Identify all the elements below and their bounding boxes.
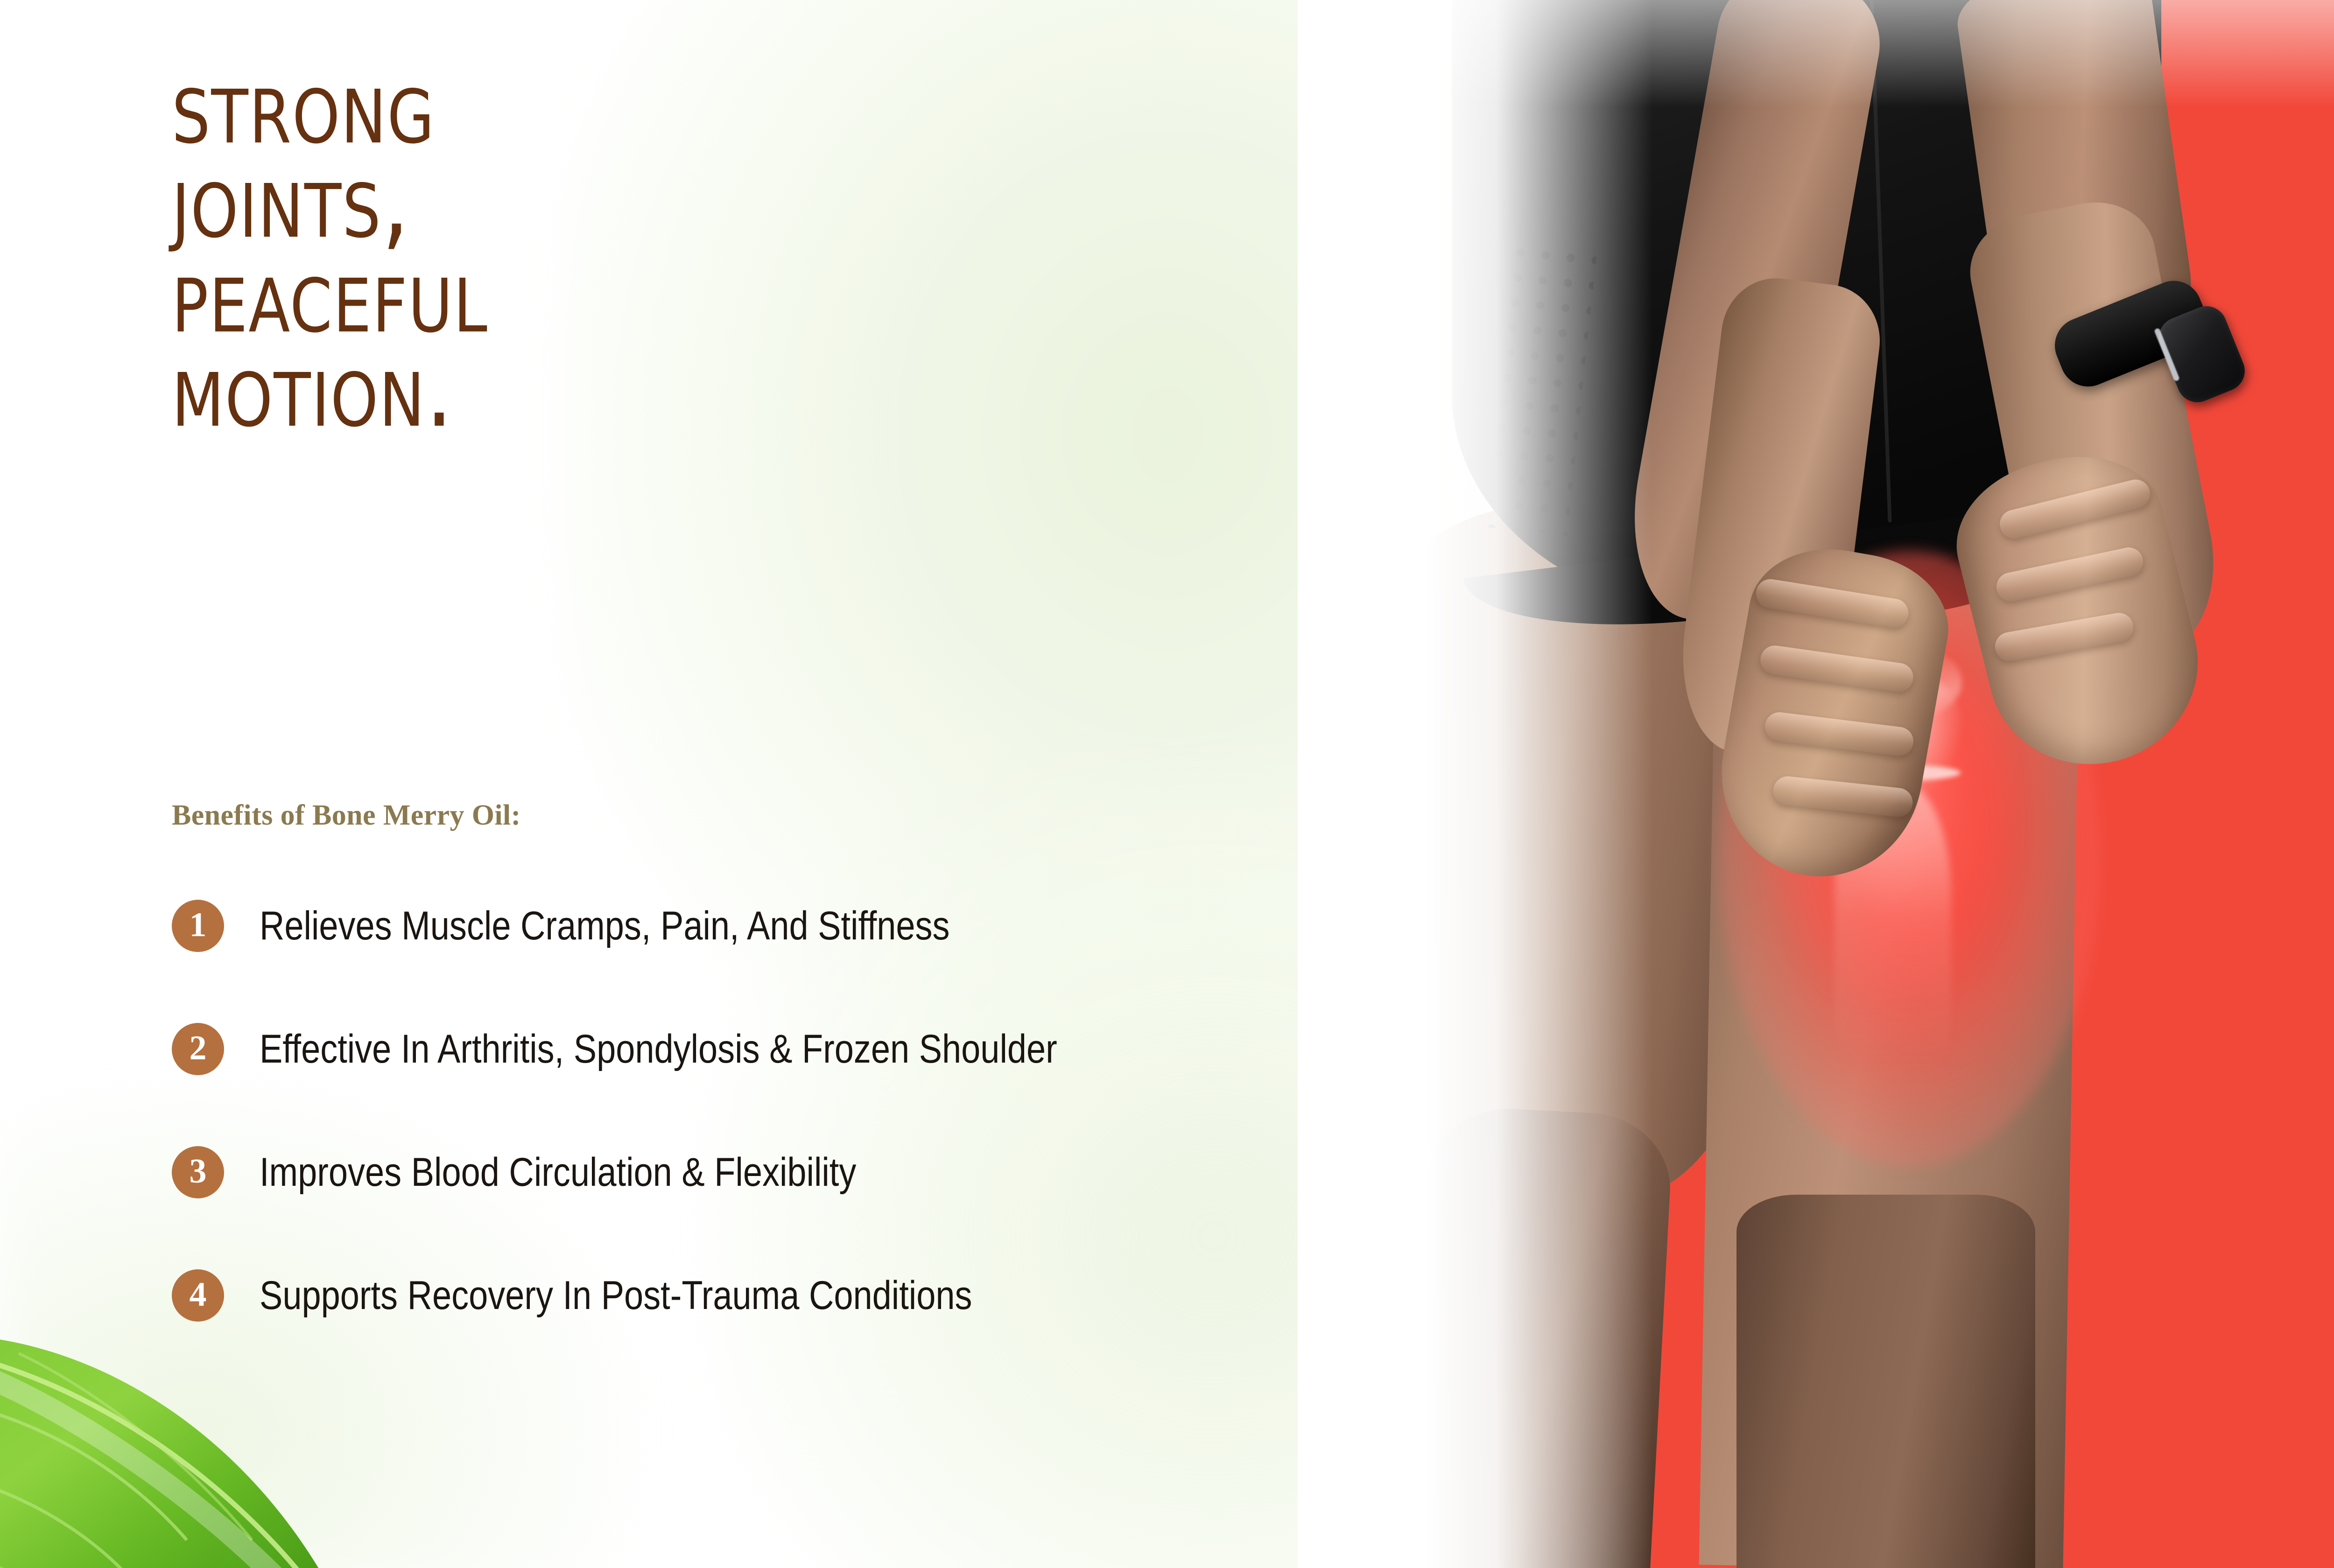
list-item: 1 Relieves Muscle Cramps, Pain, And Stif… bbox=[172, 900, 1526, 952]
benefit-number-badge: 1 bbox=[172, 900, 224, 952]
benefit-number-badge: 4 bbox=[172, 1269, 224, 1322]
poster-canvas: Strong Joints, Peaceful Motion. Benefits… bbox=[0, 0, 2334, 1568]
benefit-label: Improves Blood Circulation & Flexibility bbox=[260, 1152, 856, 1192]
list-item: 3 Improves Blood Circulation & Flexibili… bbox=[172, 1146, 1526, 1198]
benefit-label: Relieves Muscle Cramps, Pain, And Stiffn… bbox=[260, 906, 949, 946]
leaf-icon bbox=[0, 1321, 364, 1568]
list-item: 4 Supports Recovery In Post-Trauma Condi… bbox=[172, 1269, 1526, 1322]
benefits-heading: Benefits of Bone Merry Oil: bbox=[172, 799, 521, 832]
benefit-label: Supports Recovery In Post-Trauma Conditi… bbox=[260, 1275, 972, 1316]
benefit-number-badge: 3 bbox=[172, 1146, 224, 1198]
right-shin bbox=[1736, 1195, 2035, 1568]
benefits-list: 1 Relieves Muscle Cramps, Pain, And Stif… bbox=[172, 900, 1526, 1322]
list-item: 2 Effective In Arthritis, Spondylosis & … bbox=[172, 1023, 1526, 1075]
page-title: Strong Joints, Peaceful Motion. bbox=[172, 56, 1152, 434]
headline-line-4: Motion. bbox=[172, 339, 1123, 441]
benefit-number-badge: 2 bbox=[172, 1023, 224, 1075]
benefit-label: Effective In Arthritis, Spondylosis & Fr… bbox=[260, 1029, 1057, 1069]
